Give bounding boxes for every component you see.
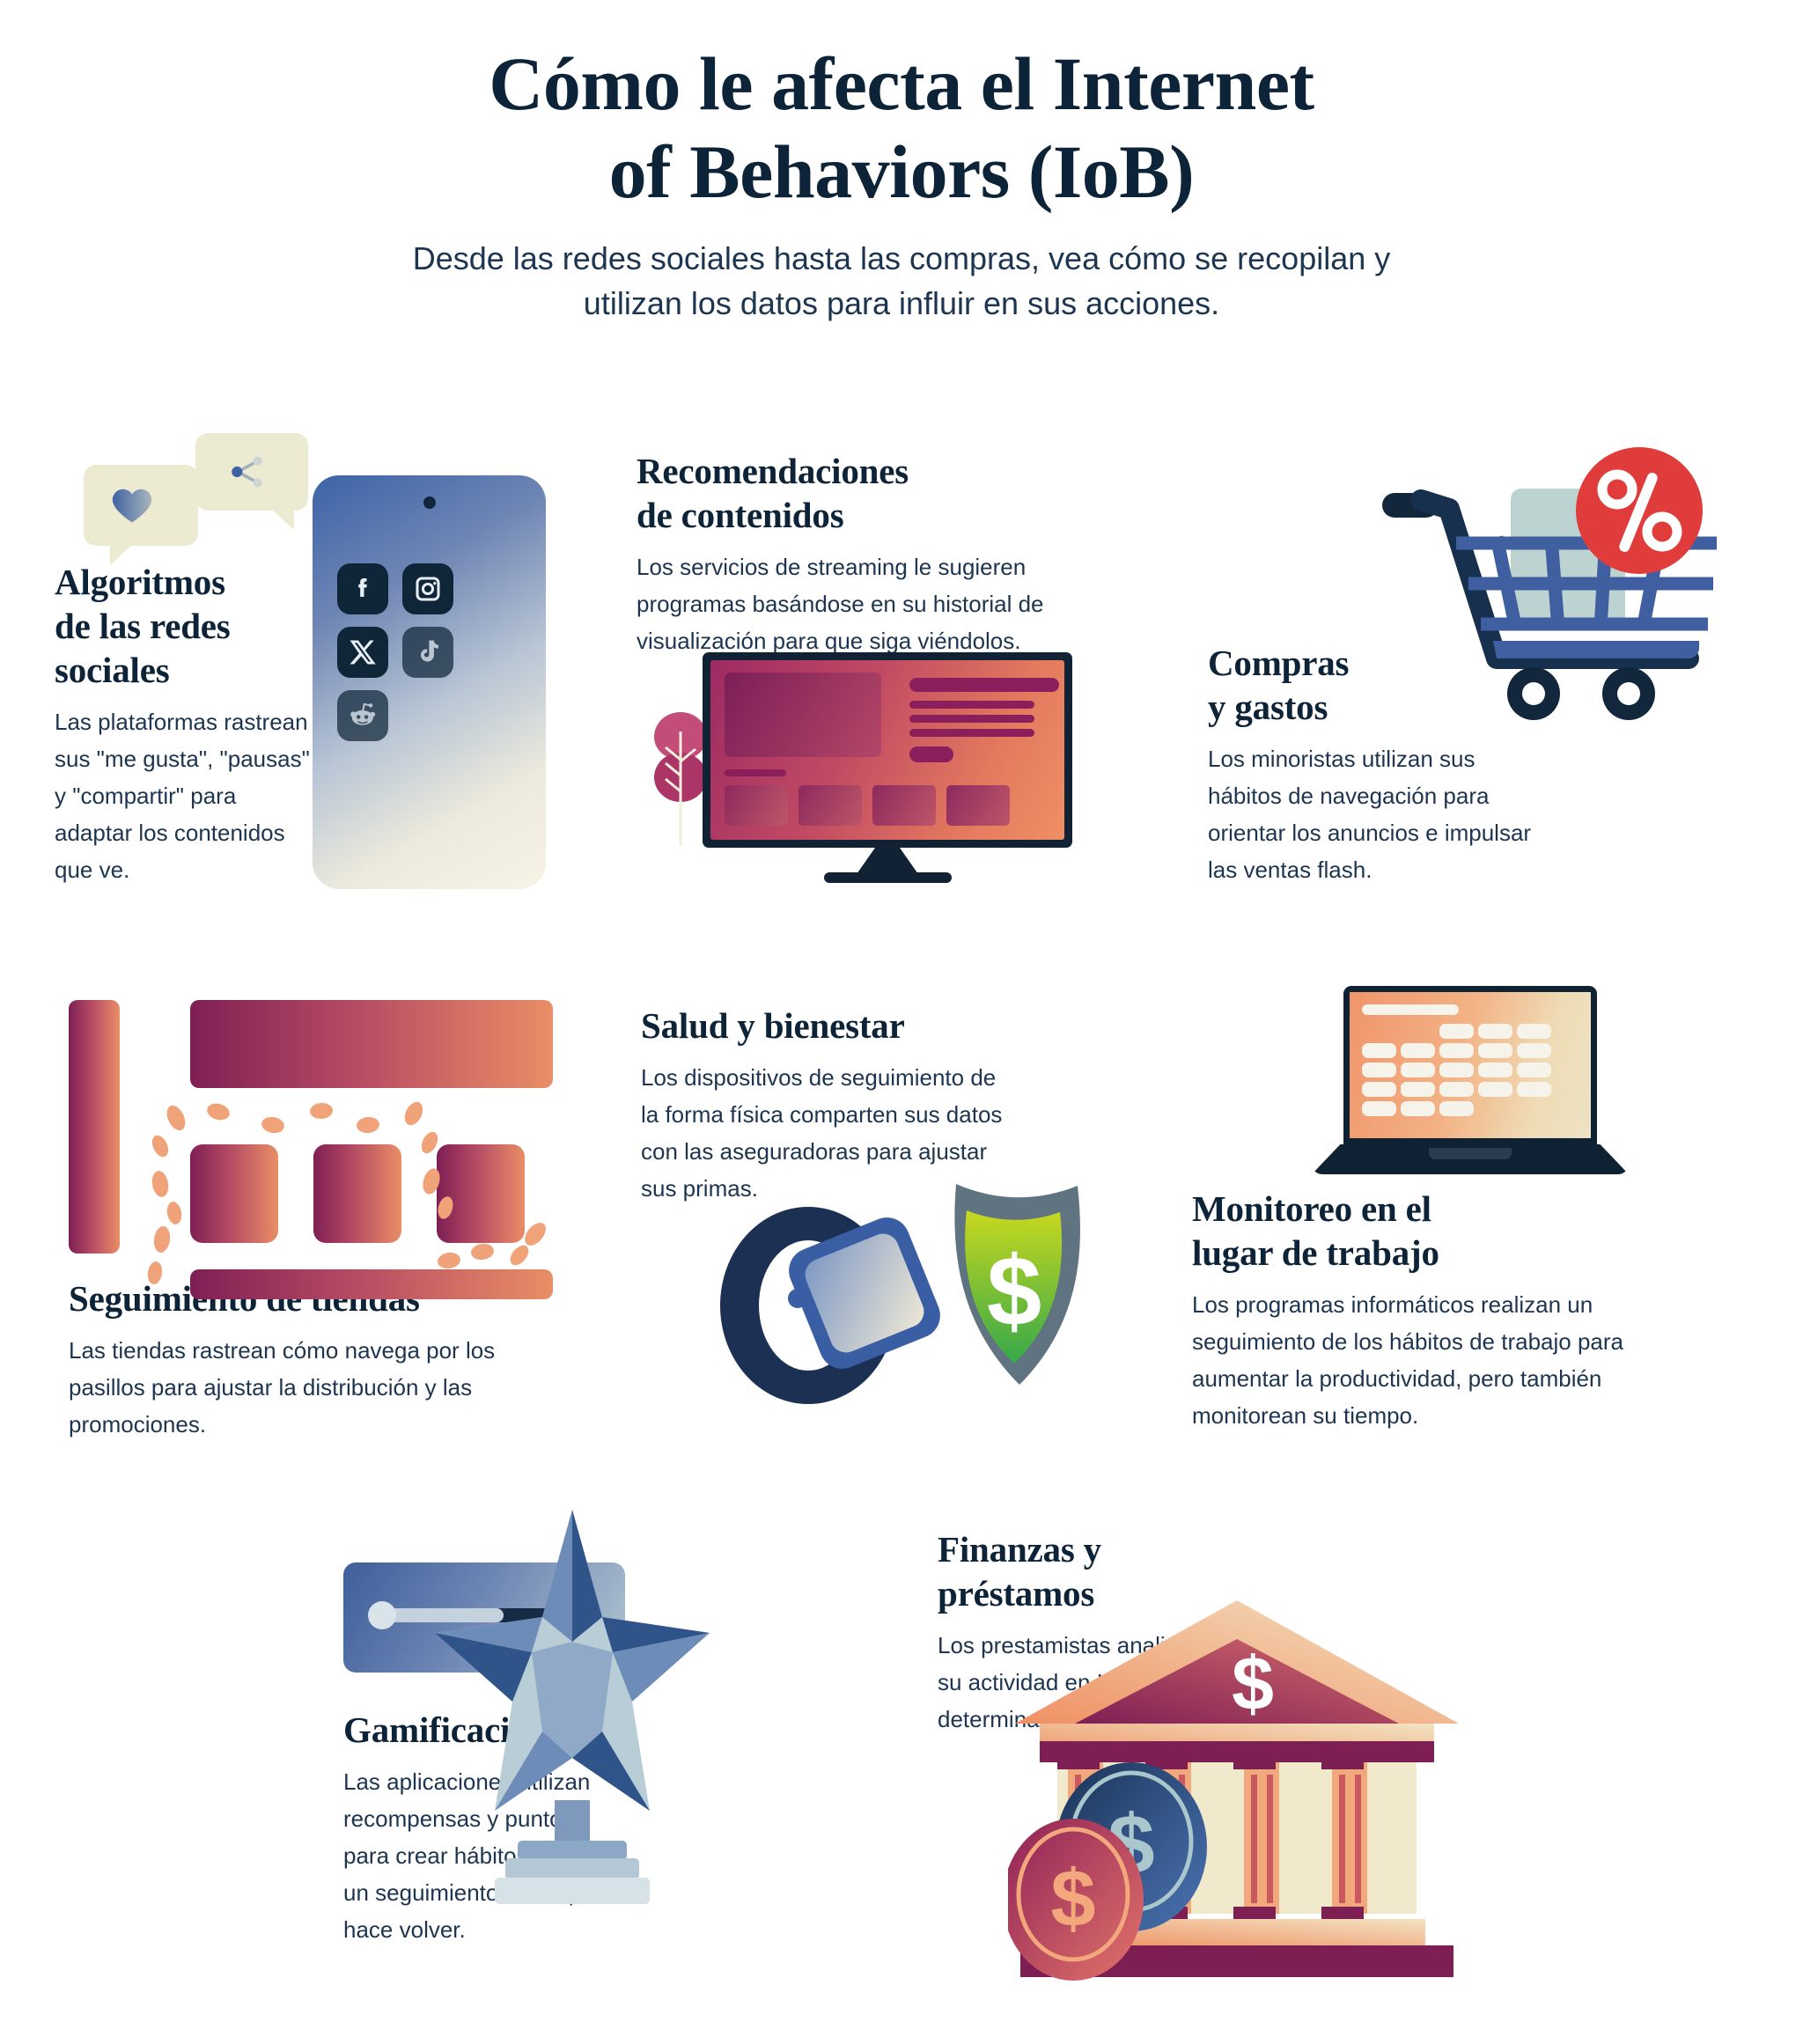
television-illustration [632, 647, 1019, 867]
social-app-grid [337, 563, 526, 754]
tv-text-line [909, 678, 1059, 692]
block-title-workplace-monitoring: Monitoreo en el lugar de trabajo [1192, 1187, 1667, 1275]
tv-screen [710, 660, 1064, 840]
tv-play-button[interactable] [909, 746, 953, 762]
gamification-illustration [343, 1501, 766, 1959]
laptop-screen [1343, 986, 1597, 1144]
page-subtitle: Desde las redes sociales hasta las compr… [373, 236, 1430, 326]
share-icon [222, 449, 273, 495]
tv-thumb[interactable] [798, 785, 862, 826]
tv-row-label [725, 769, 786, 776]
block-title-health-wellness: Salud y bienestar [641, 1004, 1019, 1048]
progress-knob[interactable] [368, 1601, 396, 1629]
laptop-trackpad [1429, 1148, 1512, 1159]
svg-text:$: $ [1050, 1854, 1095, 1944]
calendar-title-bar [1362, 1004, 1459, 1015]
block-body-workplace-monitoring: Los programas informáticos realizan un s… [1192, 1286, 1667, 1434]
infographic-page: Cómo le afecta el Internet of Behaviors … [0, 0, 1803, 2044]
tv-thumb[interactable] [872, 785, 936, 826]
block-workplace-monitoring: Monitoreo en el lugar de trabajo Los pro… [1192, 1187, 1667, 1434]
calendar-grid-icon [1350, 992, 1591, 1138]
trophy-base-1 [518, 1841, 627, 1860]
page-title-line2: of Behaviors (IoB) [609, 129, 1195, 214]
heart-icon [107, 482, 158, 528]
block-body-shopping-spending: Los minoristas utilizan sus hábitos de n… [1208, 740, 1551, 888]
page-title: Cómo le afecta el Internet of Behaviors … [0, 40, 1803, 217]
facebook-icon[interactable] [337, 563, 388, 614]
reddit-icon[interactable] [337, 690, 388, 741]
bank-illustration: $ [1008, 1593, 1466, 1981]
laptop-illustration [1312, 986, 1629, 1188]
fitness-tracker-illustration: $ $ [704, 1175, 1118, 1413]
smartwatch-icon [720, 1207, 947, 1404]
block-title-social-algorithms: Algoritmos de las redes sociales [55, 560, 319, 692]
block-content-recommendations: Recomendaciones de contenidos Los servic… [637, 449, 1077, 659]
shield-dollar-icon: $ [954, 1184, 1080, 1385]
tv-text-line [909, 729, 1034, 737]
tv-thumb[interactable] [725, 785, 788, 826]
tv-text-line [909, 715, 1034, 723]
tv-thumb[interactable] [946, 785, 1010, 826]
instagram-icon[interactable] [402, 563, 453, 614]
tv-base [824, 872, 952, 883]
block-title-content-recommendations: Recomendaciones de contenidos [637, 449, 1077, 537]
phone-camera-dot [423, 496, 436, 509]
tv-frame [703, 652, 1072, 848]
star-trophy-icon [414, 1501, 731, 1906]
trophy-base-3 [495, 1878, 650, 1904]
store-floorplan-illustration [69, 986, 562, 1268]
svg-text:$: $ [987, 1236, 1041, 1346]
block-body-social-algorithms: Las plataformas rastrean sus "me gusta",… [55, 703, 319, 889]
shopping-cart-illustration: % [1365, 440, 1734, 722]
tv-stand [857, 848, 918, 874]
coin-dollar-icon: $ [1008, 1819, 1144, 1981]
tv-hero-tile [725, 673, 881, 757]
block-body-content-recommendations: Los servicios de streaming le sugieren p… [637, 548, 1077, 659]
x-twitter-icon[interactable] [337, 627, 388, 678]
share-bubble [195, 433, 308, 511]
footsteps-icon [69, 986, 562, 1312]
trophy-star-shape [435, 1510, 710, 1811]
svg-text:$: $ [1232, 1642, 1274, 1726]
tv-text-line [909, 701, 1034, 709]
like-bubble [84, 465, 198, 546]
trophy-stem [555, 1800, 590, 1842]
page-header: Cómo le afecta el Internet of Behaviors … [0, 0, 1803, 326]
smartphone-illustration [313, 475, 546, 889]
block-body-store-tracking: Las tiendas rastrean cómo navega por los… [69, 1332, 526, 1443]
tiktok-icon[interactable] [402, 627, 453, 678]
block-social-algorithms: Algoritmos de las redes sociales Las pla… [55, 560, 319, 889]
page-title-line1: Cómo le afecta el Internet [489, 41, 1314, 126]
trophy-base-2 [505, 1858, 639, 1879]
